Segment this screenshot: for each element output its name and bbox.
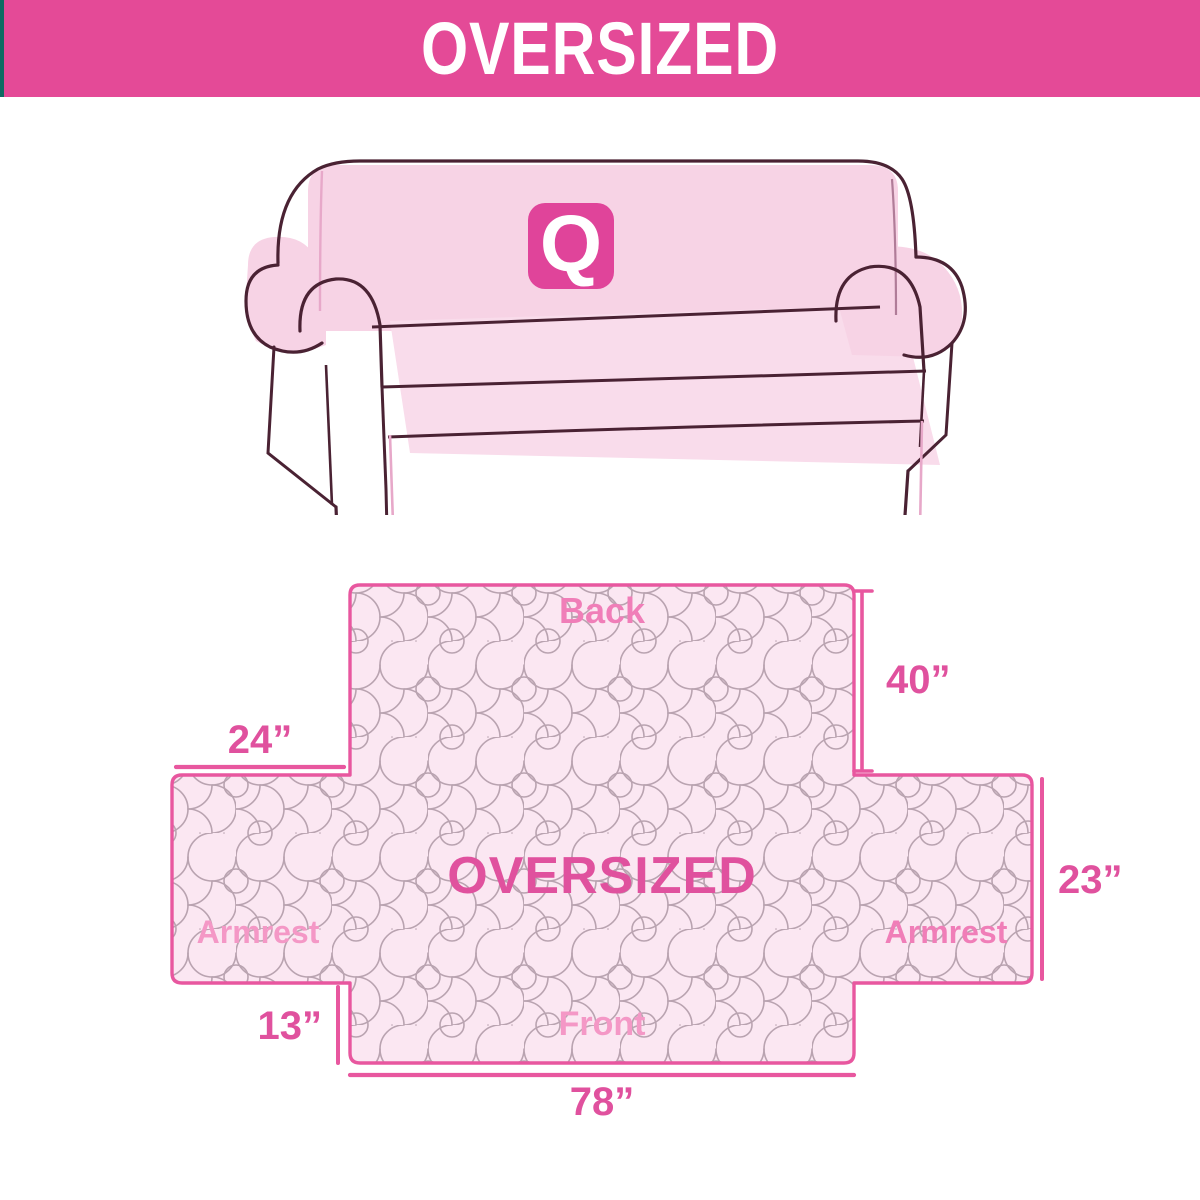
- header-accent-stripe: [0, 0, 4, 97]
- measurement-armrest-height: 23”: [1042, 779, 1123, 979]
- measurement-front-height-value: 13”: [258, 1004, 323, 1048]
- measurement-armrest-width: 24”: [176, 718, 344, 767]
- header-banner: OVERSIZED: [0, 0, 1200, 97]
- sofa-left-armrest-face-seam: [326, 365, 332, 505]
- sofa-body-group: Q: [246, 161, 965, 515]
- panel-label-back: Back: [559, 590, 646, 631]
- page-title: OVERSIZED: [108, 0, 1092, 97]
- measurement-total-width: 78”: [350, 1075, 854, 1124]
- measurement-armrest-width-value: 24”: [228, 718, 293, 762]
- brand-logo: Q: [528, 199, 614, 289]
- brand-logo-letter: Q: [540, 199, 602, 288]
- measurement-back-height-value: 40”: [886, 658, 951, 702]
- measurement-total-width-value: 78”: [570, 1080, 635, 1124]
- measurement-back-height: 40”: [854, 591, 951, 771]
- cover-shape-group: [172, 585, 1032, 1063]
- sofa-base-front-seam: [386, 489, 906, 515]
- measurement-back-height-line: [854, 591, 872, 771]
- measurement-front-height: 13”: [258, 987, 339, 1063]
- panel-label-front: Front: [559, 1005, 646, 1043]
- diagram-center-label: OVERSIZED: [447, 847, 757, 905]
- sofa-illustration: Q: [240, 135, 980, 515]
- panel-label-armrest-right: Armrest: [885, 914, 1008, 950]
- cover-cross-shape: [172, 585, 1032, 1063]
- dimension-diagram: Back Armrest Armrest Front OVERSIZED 40”…: [140, 545, 1200, 1125]
- sofa-left-armrest-front-face: [382, 387, 386, 489]
- sofa-base-outline: [336, 471, 908, 515]
- measurement-armrest-height-value: 23”: [1058, 858, 1123, 902]
- panel-label-armrest-left: Armrest: [197, 914, 320, 950]
